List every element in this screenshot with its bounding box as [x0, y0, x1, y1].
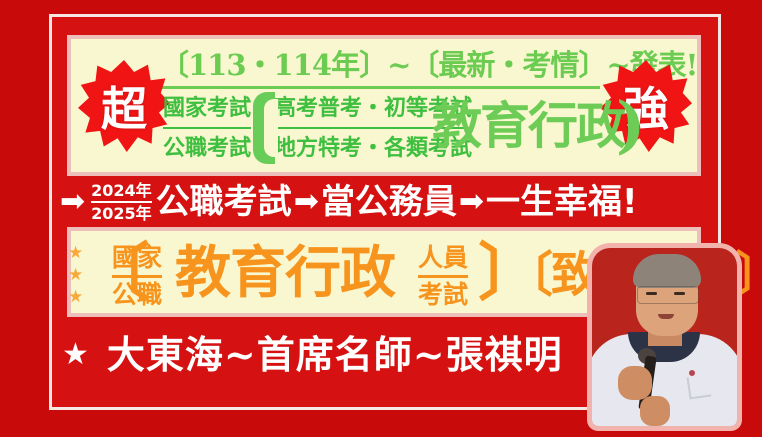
slogan-part-2: 當公務員: [321, 182, 457, 222]
star-icon-bottom: ★: [62, 340, 89, 370]
exam-national-line2: 公職考試: [163, 129, 251, 167]
exam-col-national: 國家考試 公職考試: [163, 89, 251, 167]
closing-paren-green: ): [616, 92, 645, 158]
photo-shirt-pocket: [687, 375, 712, 400]
subject-title-green: 教育行政: [432, 90, 624, 162]
photo-glasses: [637, 286, 699, 304]
photo-shirt-logo: [689, 370, 695, 376]
photo-eye-right: [674, 292, 685, 295]
star-icon-1: ★: [68, 242, 83, 264]
photo-eye-left: [646, 292, 657, 295]
star-icon-3: ★: [68, 286, 83, 308]
photo-hand-left: [618, 366, 652, 400]
arrow-right-icon-1: ➡: [60, 187, 85, 217]
label-kaoshi: 考試: [418, 278, 468, 312]
arrow-right-icon-2: ➡: [294, 187, 319, 217]
arrow-right-icon-3: ➡: [459, 187, 484, 217]
photo-hair: [633, 254, 701, 288]
slogan-part-1: 公職考試: [156, 182, 292, 222]
label-col-orange: 國家 公職: [112, 241, 162, 312]
poster-root: 〔113‧114年〕~〔最新‧考情〕~發表! 超 強 國家考試 公職考試 高考普…: [0, 0, 762, 437]
slogan-part-3: 一生幸福!: [486, 182, 638, 222]
badge-chao-label: 超: [101, 73, 147, 139]
exam-national-line1: 國家考試: [163, 89, 251, 129]
person-col-orange: 人員 考試: [418, 241, 468, 312]
label-guojia: 國家: [112, 241, 162, 278]
slogan-band: ➡ 2024年 2025年 公職考試 ➡ 當公務員 ➡ 一生幸福!: [58, 176, 710, 228]
headline-text: 〔113‧114年〕~〔最新‧考情〕~發表!: [160, 46, 600, 89]
star-icon-2: ★: [68, 264, 83, 286]
label-renyuan: 人員: [418, 241, 468, 278]
green-bracket-icon: [253, 92, 275, 164]
photo-mouth: [658, 314, 674, 319]
instructor-name-text: 大東海~首席名師~張祺明: [107, 332, 563, 378]
year-stack: 2024年 2025年: [91, 180, 152, 224]
year-2024: 2024年: [91, 180, 152, 203]
main-title-orange: 教育行政: [175, 236, 395, 312]
three-stars-icon: ★ ★ ★: [68, 242, 83, 308]
label-gongzhi: 公職: [112, 278, 162, 312]
instructor-band: ★ 大東海~首席名師~張祺明: [62, 325, 682, 385]
photo-hand-right: [640, 396, 670, 426]
presenter-photo: [592, 248, 737, 426]
year-2025: 2025年: [91, 203, 152, 224]
